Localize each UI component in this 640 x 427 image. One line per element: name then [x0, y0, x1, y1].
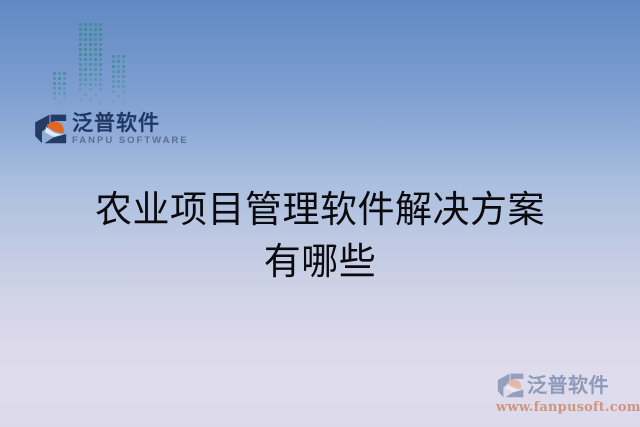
slide-headline: 农业项目管理软件解决方案 有哪些 [0, 184, 640, 288]
brand-name-cn: 泛普软件 [72, 112, 189, 134]
watermark-url: www.fanpusoft.com [496, 400, 636, 415]
brand-logo-text: 泛普软件 FANPU SOFTWARE [72, 112, 189, 147]
pixel-mosaic-skyline-decoration [52, 22, 152, 106]
headline-line-1: 农业项目管理软件解决方案 [0, 184, 640, 236]
fanpu-logo-mark-icon [33, 114, 67, 144]
watermark-brand-name: 泛普软件 [527, 374, 609, 396]
brand-logo: 泛普软件 FANPU SOFTWARE [33, 108, 189, 150]
fanpu-logo-mark-icon [496, 373, 524, 398]
brand-name-en: FANPU SOFTWARE [72, 135, 189, 147]
watermark-logo-row: 泛普软件 [496, 370, 636, 400]
slide-canvas: 泛普软件 FANPU SOFTWARE 农业项目管理软件解决方案 有哪些 泛普软… [0, 0, 640, 427]
headline-line-2: 有哪些 [0, 236, 640, 288]
watermark: 泛普软件 www.fanpusoft.com [496, 370, 636, 418]
